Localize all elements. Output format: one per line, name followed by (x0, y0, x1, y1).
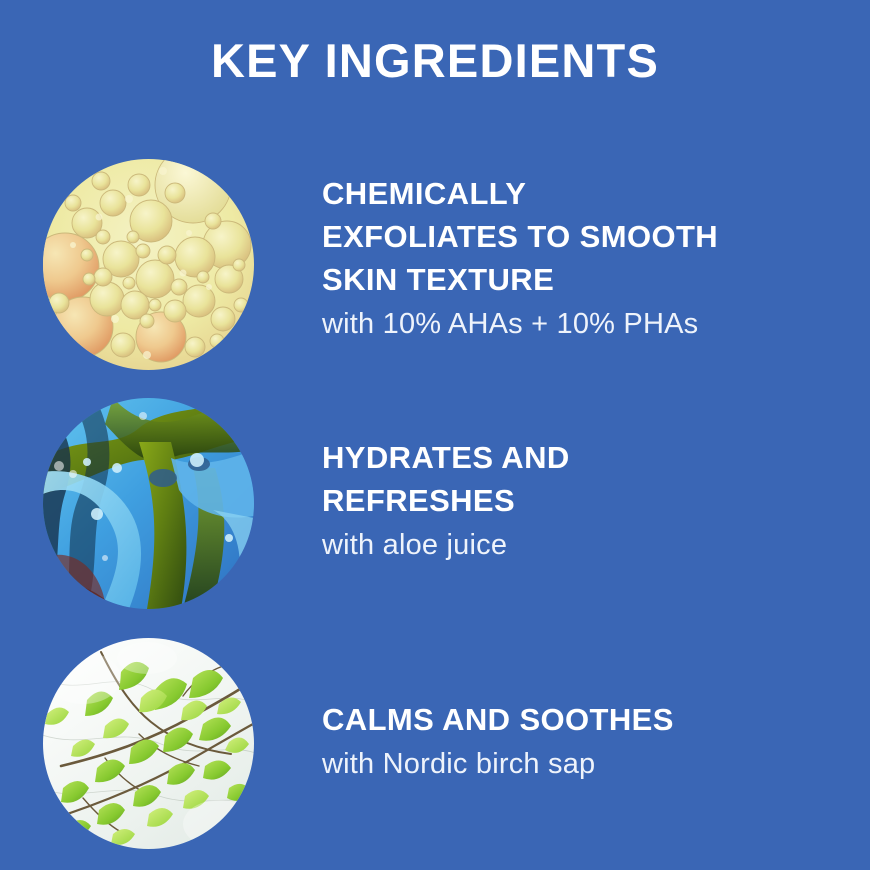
ingredient-subline: with aloe juice (322, 522, 850, 567)
oil-bubbles-swatch (43, 159, 254, 370)
ingredient-text: CHEMICALLYEXFOLIATES TO SMOOTHSKIN TEXTU… (322, 172, 850, 346)
page-title: KEY INGREDIENTS (0, 34, 870, 88)
aloe-gel-swatch (43, 398, 254, 609)
ingredient-text: CALMS AND SOOTHES with Nordic birch sap (322, 698, 850, 786)
ingredient-row: HYDRATES ANDREFRESHES with aloe juice (0, 398, 870, 610)
ingredient-row: CALMS AND SOOTHES with Nordic birch sap (0, 638, 870, 850)
ingredient-row: CHEMICALLYEXFOLIATES TO SMOOTHSKIN TEXTU… (0, 159, 870, 371)
ingredient-subline: with 10% AHAs + 10% PHAs (322, 301, 850, 346)
ingredient-text: HYDRATES ANDREFRESHES with aloe juice (322, 436, 850, 567)
ingredient-headline: CHEMICALLYEXFOLIATES TO SMOOTHSKIN TEXTU… (322, 172, 850, 301)
ingredient-subline: with Nordic birch sap (322, 741, 850, 786)
ingredient-headline: HYDRATES ANDREFRESHES (322, 436, 850, 522)
ingredient-headline: CALMS AND SOOTHES (322, 698, 850, 741)
key-ingredients-infographic: KEY INGREDIENTS (0, 0, 870, 870)
birch-leaves-swatch (43, 638, 254, 849)
